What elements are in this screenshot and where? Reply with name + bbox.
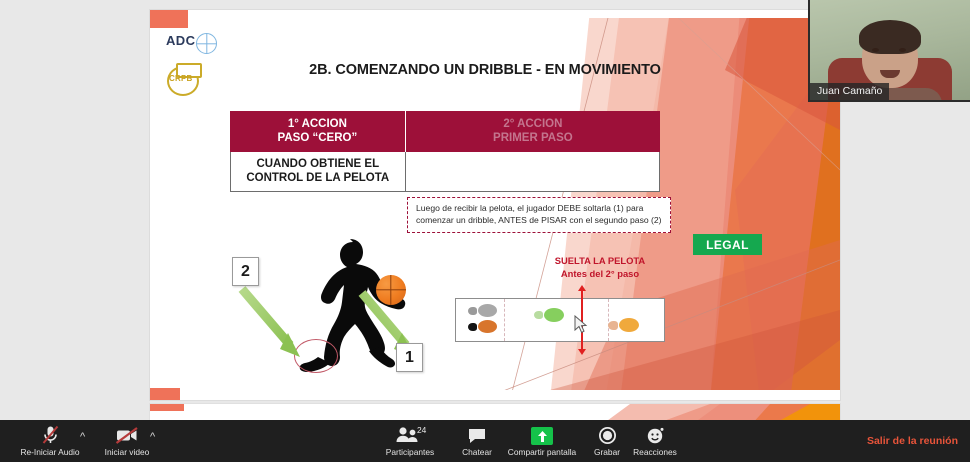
participants-icon: 24 (395, 424, 425, 445)
participants-count-badge: 24 (417, 425, 426, 435)
header-1-line-2: PASO “CERO” (234, 131, 401, 145)
footprint-divider-1 (504, 299, 505, 341)
slide-logos: ADC CRPB (166, 32, 220, 94)
toolbar-label-video: Iniciar video (105, 447, 150, 457)
presentation-slide: ADC CRPB 2B. COMENZANDO UN DRIBBLE - EN … (150, 10, 840, 400)
step-arrow-1 (352, 289, 442, 389)
table-body-row: CUANDO OBTIENE EL CONTROL DE LA PELOTA (230, 152, 660, 192)
footprint-amber-sole (619, 318, 639, 332)
camera-off-icon (115, 424, 139, 445)
webcam-eye-left (872, 48, 879, 52)
cell-2-line-2 (410, 171, 655, 185)
record-circle-icon (598, 424, 617, 445)
slide-top-band (150, 10, 840, 18)
toolbar-label-share-screen: Compartir pantalla (508, 447, 576, 457)
webcam-hair (859, 20, 921, 54)
footprint-gray-toe (468, 307, 477, 315)
crpb-logo-text: CRPB (169, 74, 192, 83)
zoom-meeting-window: ADC CRPB 2B. COMENZANDO UN DRIBBLE - EN … (0, 0, 970, 462)
footprint-tan-toe (608, 321, 618, 330)
toolbar-button-record[interactable]: Grabar (586, 424, 628, 457)
video-chevron-up-icon[interactable]: ^ (150, 431, 155, 443)
next-slide-preview (150, 404, 840, 420)
step-marker-2: 2 (232, 257, 259, 286)
footprint-gray-sole (478, 304, 497, 317)
toolbar-button-video[interactable]: Iniciar video (96, 424, 158, 457)
webcam-eye-right (899, 48, 906, 52)
table-cell-2 (406, 152, 660, 192)
rule-callout-box: Luego de recibir la pelota, el jugador D… (407, 197, 671, 233)
player-illustration: 2 1 (210, 235, 440, 385)
footprint-black-toe (468, 323, 477, 331)
release-note-line-2: Antes del 2° paso (535, 268, 665, 281)
toolbar-label-chat: Chatear (462, 447, 492, 457)
footprint-green-sole (544, 308, 564, 322)
header-1-line-1: 1° ACCION (234, 117, 401, 131)
webcam-tile[interactable]: Juan Camaño (808, 0, 970, 102)
reactions-smiley-icon (646, 424, 665, 445)
meeting-toolbar: Re-Iniciar Audio ^ Iniciar video ^ (0, 420, 970, 462)
crpb-logo: CRPB (166, 64, 200, 94)
footprint-green-toe (534, 311, 543, 319)
slide-corner-accent-bottom (150, 388, 180, 400)
footprint-diagram (455, 298, 665, 342)
toolbar-button-share-screen[interactable]: Compartir pantalla (498, 424, 586, 457)
basketball-icon (196, 33, 217, 54)
table-header-row: 1° ACCION PASO “CERO” 2° ACCION PRIMER P… (230, 111, 660, 152)
table-cell-1: CUANDO OBTIENE EL CONTROL DE LA PELOTA (230, 152, 406, 192)
footprint-divider-2 (608, 299, 609, 341)
cell-2-line-1 (410, 157, 655, 171)
slide-corner-accent (150, 10, 188, 28)
legal-badge: LEGAL (693, 234, 762, 255)
step-arrow-2 (236, 283, 326, 383)
share-screen-icon (531, 424, 553, 445)
footprint-orange-sole (478, 320, 497, 333)
table-header-cell-1: 1° ACCION PASO “CERO” (230, 111, 406, 152)
mouse-cursor-icon (574, 315, 588, 334)
toolbar-button-audio[interactable]: Re-Iniciar Audio (14, 424, 86, 457)
chat-bubble-icon (467, 424, 487, 445)
next-slide-art (150, 404, 840, 420)
cell-1-line-2: CONTROL DE LA PELOTA (235, 171, 401, 185)
microphone-muted-icon (42, 424, 59, 445)
shared-screen-stage: ADC CRPB 2B. COMENZANDO UN DRIBBLE - EN … (0, 0, 970, 420)
toolbar-label-participants: Participantes (386, 447, 434, 457)
toolbar-button-chat[interactable]: Chatear (455, 424, 499, 457)
header-2-line-2: PRIMER PASO (410, 131, 656, 145)
release-note: SUELTA LA PELOTA Antes del 2° paso (535, 255, 665, 280)
header-2-line-1: 2° ACCION (410, 117, 656, 131)
adc-logo: ADC (166, 32, 220, 58)
slide-title: 2B. COMENZANDO UN DRIBBLE - EN MOVIMIENT… (250, 62, 720, 78)
audio-chevron-up-icon[interactable]: ^ (80, 431, 85, 443)
toolbar-button-reactions[interactable]: Reacciones (628, 424, 682, 457)
webcam-name-label: Juan Camaño (810, 83, 889, 100)
cell-1-line-1: CUANDO OBTIENE EL (235, 157, 401, 171)
action-table: 1° ACCION PASO “CERO” 2° ACCION PRIMER P… (230, 111, 660, 192)
toolbar-label-audio: Re-Iniciar Audio (20, 447, 79, 457)
leave-meeting-button[interactable]: Salir de la reunión (867, 435, 958, 447)
toolbar-label-reactions: Reacciones (633, 447, 677, 457)
step-marker-1: 1 (396, 343, 423, 372)
toolbar-button-participants[interactable]: 24 Participantes (380, 424, 440, 457)
toolbar-label-record: Grabar (594, 447, 620, 457)
slide-bottom-band (150, 390, 840, 400)
table-header-cell-2: 2° ACCION PRIMER PASO (406, 111, 660, 152)
adc-logo-text: ADC (166, 33, 195, 48)
release-note-line-1: SUELTA LA PELOTA (535, 255, 665, 268)
